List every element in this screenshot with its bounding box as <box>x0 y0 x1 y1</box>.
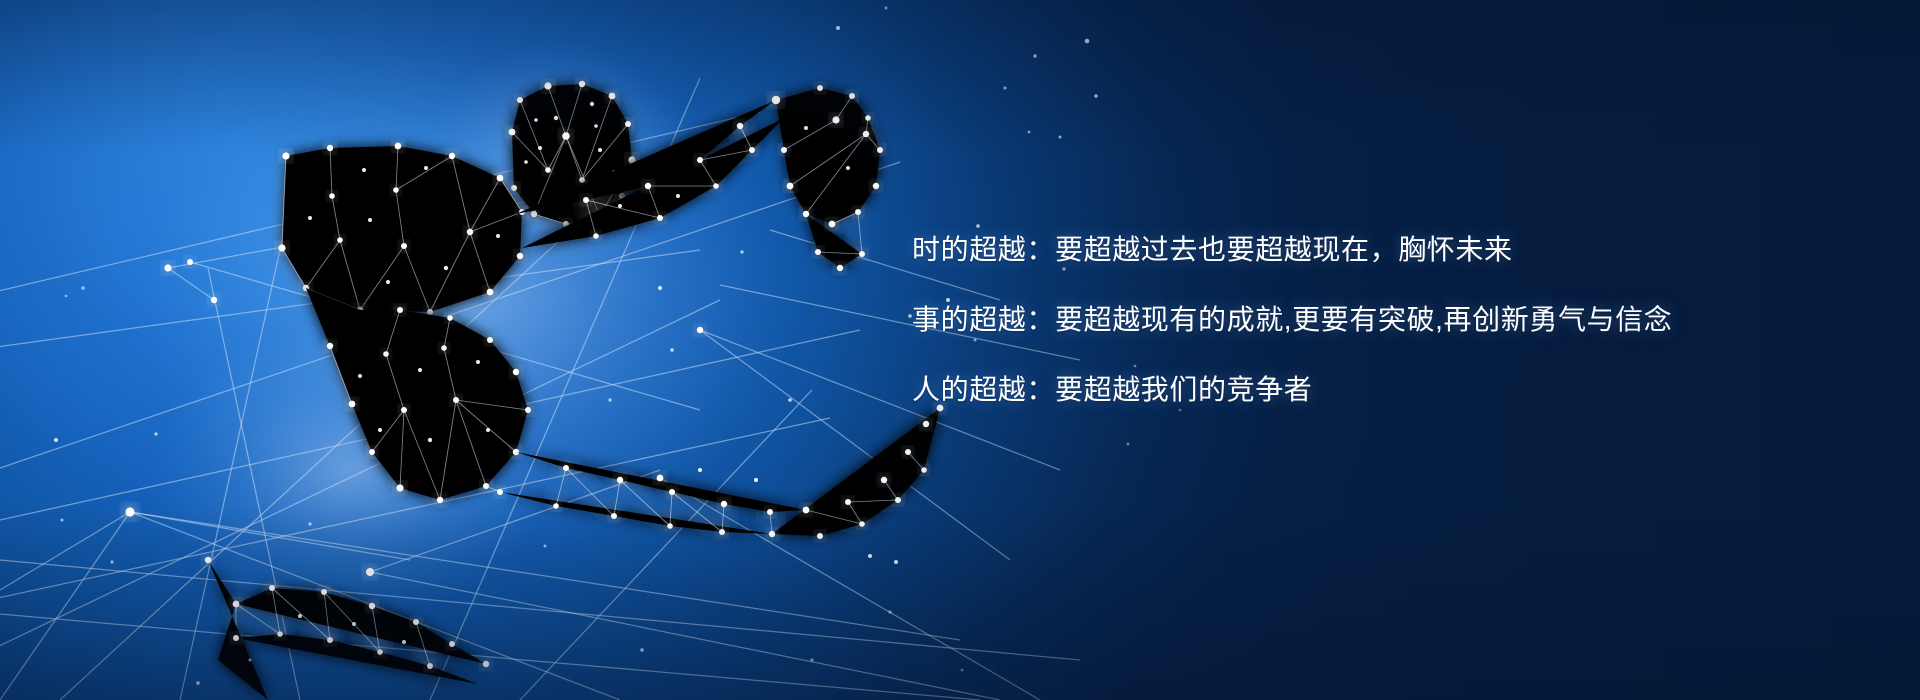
hero-banner: 时的超越：要超越过去也要超越现在，胸怀未来 事的超越：要超越现有的成就,更要有突… <box>0 0 1920 700</box>
slogan-line-people: 人的超越：要超越我们的竞争者 <box>912 376 1872 404</box>
slogan-text-block: 时的超越：要超越过去也要超越现在，胸怀未来 事的超越：要超越现有的成就,更要有突… <box>912 236 1872 404</box>
slogan-line-matter: 事的超越：要超越现有的成就,更要有突破,再创新勇气与信念 <box>912 306 1872 334</box>
slogan-line-time: 时的超越：要超越过去也要超越现在，胸怀未来 <box>912 236 1872 264</box>
